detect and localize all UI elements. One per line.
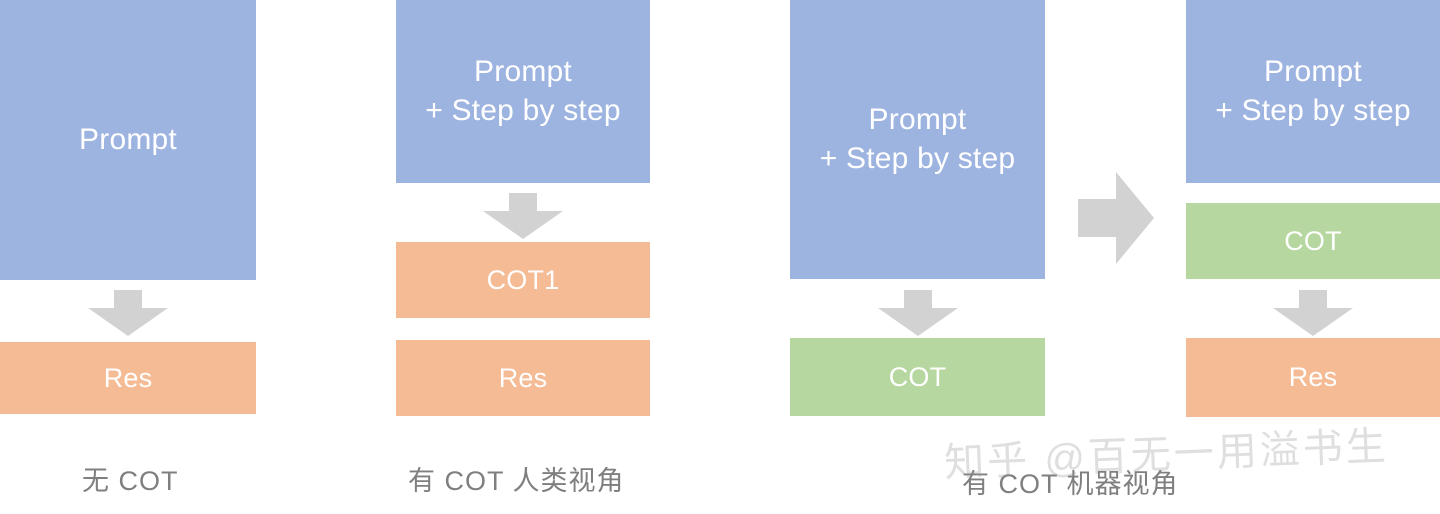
arrow-down-icon-col1	[88, 290, 168, 336]
arrow-down-icon-col4	[1273, 290, 1353, 336]
diagram-canvas: Prompt Res 无 COT Prompt + Step by step C…	[0, 0, 1440, 514]
box-cot-col3: COT	[790, 338, 1045, 416]
arrow-down-icon-col2	[483, 193, 563, 239]
caption-col3: 有 COT 机器视角	[962, 462, 1179, 501]
arrow-right-icon	[1078, 172, 1154, 264]
box-cot-col4: COT	[1186, 203, 1440, 279]
box-cot1-col2: COT1	[396, 242, 650, 318]
box-prompt-step-col2: Prompt + Step by step	[396, 0, 650, 183]
box-prompt-step-col3: Prompt + Step by step	[790, 0, 1045, 279]
box-prompt-col1: Prompt	[0, 0, 256, 280]
box-res-col1: Res	[0, 342, 256, 414]
caption-col2: 有 COT 人类视角	[408, 459, 625, 498]
box-prompt-step-col4: Prompt + Step by step	[1186, 0, 1440, 183]
box-res-col2: Res	[396, 340, 650, 416]
caption-col1: 无 COT	[82, 459, 179, 498]
box-res-col4: Res	[1186, 338, 1440, 417]
arrow-down-icon-col3	[878, 290, 958, 336]
